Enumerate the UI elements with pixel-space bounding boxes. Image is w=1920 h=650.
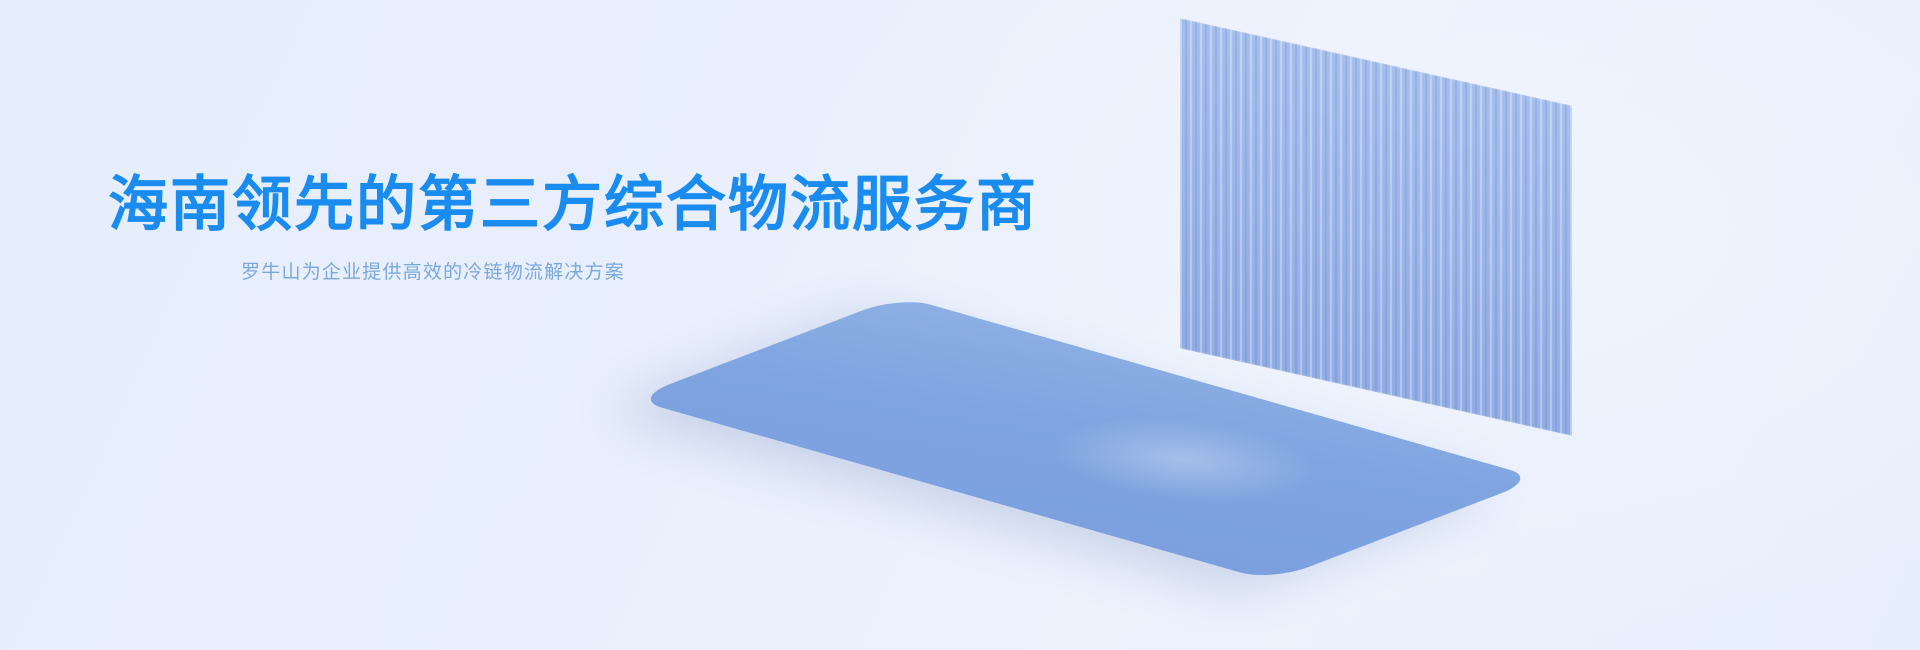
hero-banner: 海南领先的第三方综合物流服务商 罗牛山为企业提供高效的冷链物流解决方案 <box>0 0 1920 650</box>
warehouse-side-wall <box>1572 152 1872 482</box>
warehouse-building <box>1180 40 1880 460</box>
warehouse-forklift-illustration <box>880 0 1920 650</box>
warehouse-front-wall <box>1180 18 1572 436</box>
hero-copy-block: 海南领先的第三方综合物流服务商 罗牛山为企业提供高效的冷链物流解决方案 <box>108 170 968 287</box>
page-subtitle: 罗牛山为企业提供高效的冷链物流解决方案 <box>108 259 968 288</box>
page-title: 海南领先的第三方综合物流服务商 <box>108 170 968 241</box>
